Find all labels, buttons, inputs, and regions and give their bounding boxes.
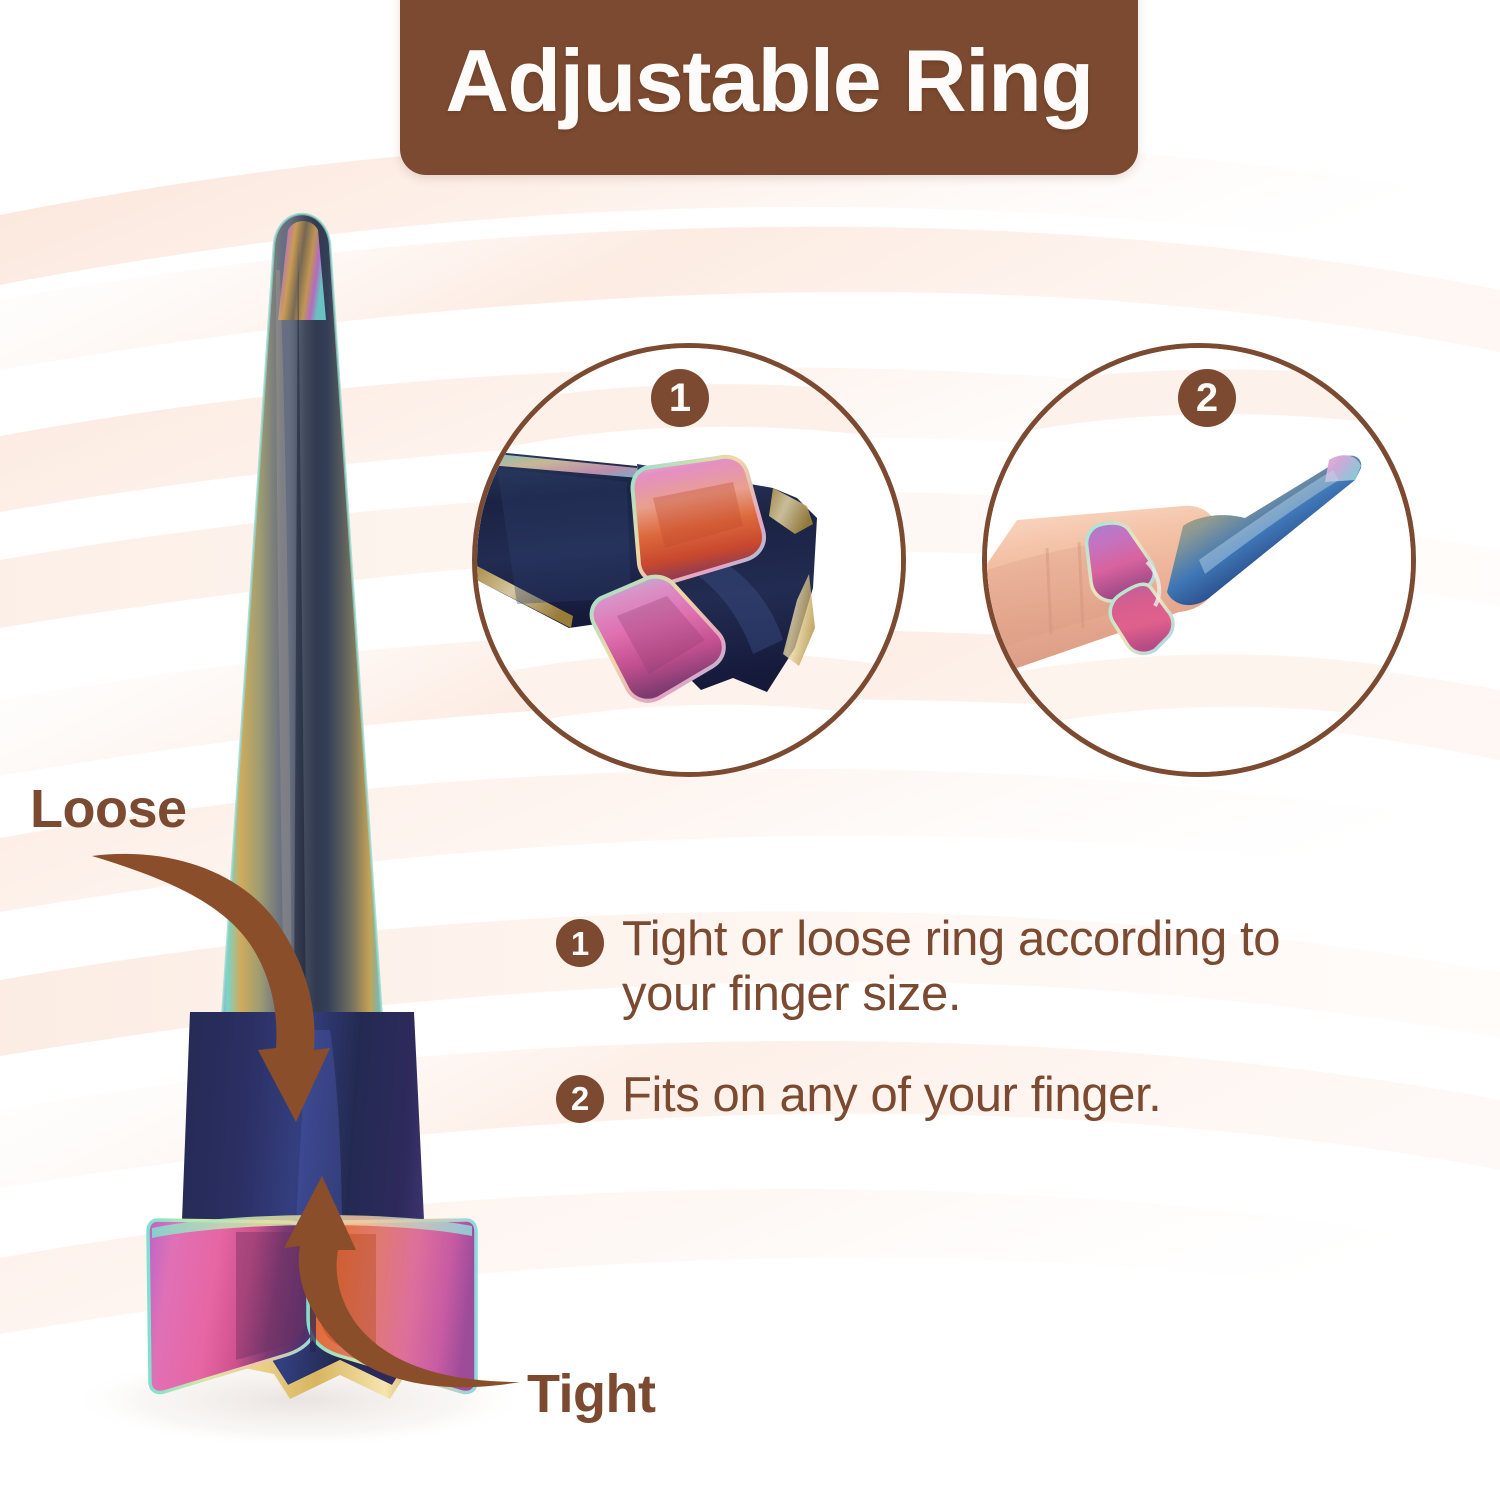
- page-title: Adjustable Ring: [445, 37, 1092, 125]
- feature-list: 1 Tight or loose ring according to your …: [556, 912, 1386, 1169]
- inset-badge-1: 1: [651, 369, 709, 427]
- callout-label-tight: Tight: [527, 1363, 655, 1425]
- bullet-badge-1: 1: [556, 919, 604, 967]
- list-item: 2 Fits on any of your finger.: [556, 1068, 1386, 1123]
- bullet-text-1: Tight or loose ring according to your fi…: [622, 912, 1386, 1022]
- callout-label-loose: Loose: [30, 778, 187, 840]
- bullet-text-2: Fits on any of your finger.: [622, 1068, 1161, 1123]
- infographic-canvas: Adjustable Ring: [0, 0, 1500, 1500]
- inset-badge-2: 2: [1178, 369, 1236, 427]
- bullet-badge-2: 2: [556, 1075, 604, 1123]
- title-banner: Adjustable Ring: [400, 0, 1138, 175]
- list-item: 1 Tight or loose ring according to your …: [556, 912, 1386, 1022]
